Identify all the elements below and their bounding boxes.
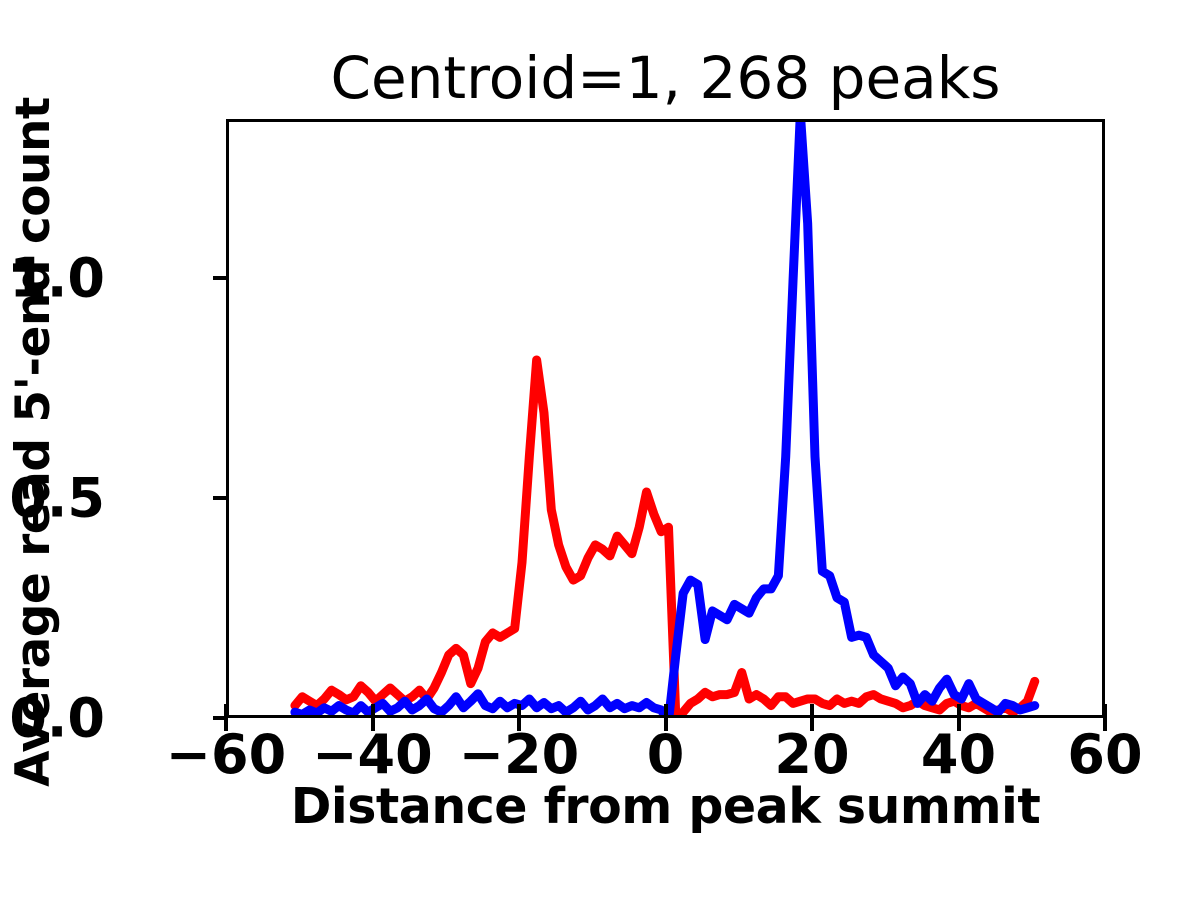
y-tick-mark: [213, 276, 226, 280]
x-axis-label: Distance from peak summit: [226, 778, 1105, 835]
chart-title: Centroid=1, 268 peaks: [226, 46, 1105, 110]
x-tick-label: 0: [647, 723, 685, 786]
y-tick-label: 1.0: [9, 246, 105, 309]
x-tick-label: 60: [1067, 723, 1142, 786]
x-tick-label: −40: [312, 723, 432, 786]
x-tick-mark-inner: [1103, 704, 1107, 718]
y-axis-label: Average read 5'-end count: [0, 0, 110, 900]
x-tick-mark-inner: [957, 704, 961, 718]
x-tick-mark-inner: [371, 704, 375, 718]
data-line-blue: [295, 122, 1035, 718]
y-axis-label-text: Average read 5'-end count: [6, 97, 61, 787]
y-tick-label: 0.5: [9, 466, 105, 529]
x-tick-label: −20: [459, 723, 579, 786]
x-tick-label: 20: [774, 723, 849, 786]
x-tick-mark-inner: [810, 704, 814, 718]
y-tick-mark: [213, 716, 226, 720]
plot-canvas: [229, 122, 1105, 718]
y-tick-mark: [213, 496, 226, 500]
plot-area: [226, 119, 1105, 718]
chart-figure: Centroid=1, 268 peaks Average read 5'-en…: [0, 0, 1200, 900]
x-tick-mark-inner: [664, 704, 668, 718]
x-tick-label: 40: [921, 723, 996, 786]
x-tick-label: −60: [166, 723, 286, 786]
y-tick-label: 0.0: [9, 687, 105, 750]
x-tick-mark-inner: [517, 704, 521, 718]
data-line-red: [295, 360, 1035, 717]
